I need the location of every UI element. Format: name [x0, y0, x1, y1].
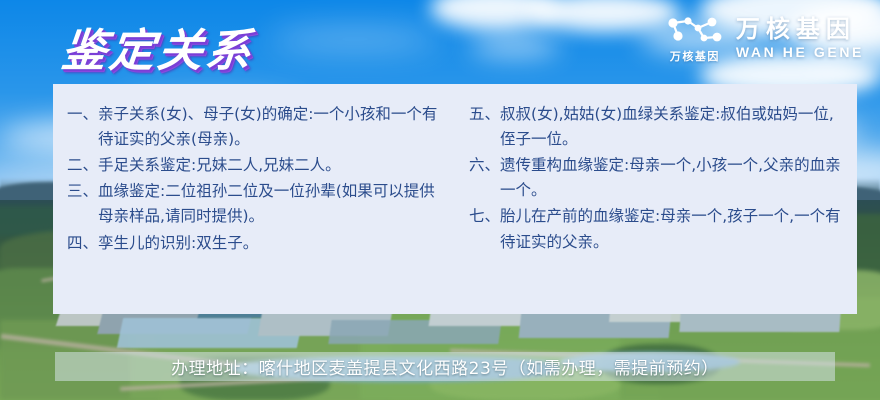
- logo-mark: 万核基因: [664, 14, 726, 64]
- list-item: 四、 孪生儿的识别:双生子。: [67, 231, 447, 256]
- left-column: 一、 亲子关系(女)、母子(女)的确定:一个小孩和一个有待证实的父亲(母亲)。 …: [53, 102, 455, 314]
- brand-name-cn: 万核基因: [736, 17, 856, 43]
- list-item-number: 五、: [469, 102, 500, 127]
- list-item-text: 遗传重构血缘鉴定:母亲一个,小孩一个,父亲的血亲一个。: [500, 153, 849, 203]
- footer-bar: 办理地址：喀什地区麦盖提县文化西路23号（如需办理，需提前预约）: [55, 352, 835, 381]
- list-item-number: 六、: [469, 153, 500, 178]
- logo-caption: 万核基因: [670, 48, 720, 64]
- brand-name-block: 万核基因 WAN HE GENE: [736, 17, 864, 60]
- list-item: 三、 血缘鉴定:二位祖孙二位及一位孙辈(如果可以提供母亲样品,请同时提供)。: [67, 179, 447, 229]
- list-item: 五、 叔叔(女),姑姑(女)血绿关系鉴定:叔伯或姑妈一位,侄子一位。: [469, 102, 849, 152]
- list-item-text: 胎儿在产前的血缘鉴定:母亲一个,孩子一个,一个有待证实的父亲。: [500, 204, 849, 254]
- list-item-number: 四、: [67, 231, 98, 256]
- building-roof: [679, 312, 840, 332]
- molecule-node-graph-icon: [664, 14, 726, 46]
- list-item-text: 亲子关系(女)、母子(女)的确定:一个小孩和一个有待证实的父亲(母亲)。: [98, 102, 447, 152]
- list-item-number: 二、: [67, 153, 98, 178]
- right-column: 五、 叔叔(女),姑姑(女)血绿关系鉴定:叔伯或姑妈一位,侄子一位。 六、 遗传…: [455, 102, 857, 314]
- list-item: 二、 手足关系鉴定:兄妹二人,兄妹二人。: [67, 153, 447, 178]
- list-item-text: 血缘鉴定:二位祖孙二位及一位孙辈(如果可以提供母亲样品,请同时提供)。: [98, 179, 447, 229]
- list-item-text: 叔叔(女),姑姑(女)血绿关系鉴定:叔伯或姑妈一位,侄子一位。: [500, 102, 849, 152]
- brand-name-en: WAN HE GENE: [736, 44, 864, 61]
- brand-logo: 万核基因 万核基因 WAN HE GENE: [664, 14, 864, 64]
- list-item-number: 七、: [469, 204, 500, 229]
- page-title: 鉴定关系: [59, 14, 258, 79]
- list-item-number: 三、: [67, 179, 98, 204]
- poster-root: 鉴定关系: [0, 0, 880, 400]
- list-item: 一、 亲子关系(女)、母子(女)的确定:一个小孩和一个有待证实的父亲(母亲)。: [67, 102, 447, 152]
- footer-address-text: 办理地址：喀什地区麦盖提县文化西路23号（如需办理，需提前预约）: [171, 354, 719, 379]
- list-item-text: 手足关系鉴定:兄妹二人,兄妹二人。: [98, 153, 447, 178]
- list-item-text: 孪生儿的识别:双生子。: [98, 231, 447, 256]
- list-item: 六、 遗传重构血缘鉴定:母亲一个,小孩一个,父亲的血亲一个。: [469, 153, 849, 203]
- list-item-number: 一、: [67, 102, 98, 127]
- cloud-decoration: [270, 28, 440, 50]
- cloud-decoration: [470, 36, 560, 56]
- content-panel: 一、 亲子关系(女)、母子(女)的确定:一个小孩和一个有待证实的父亲(母亲)。 …: [53, 84, 857, 314]
- list-item: 七、 胎儿在产前的血缘鉴定:母亲一个,孩子一个,一个有待证实的父亲。: [469, 204, 849, 254]
